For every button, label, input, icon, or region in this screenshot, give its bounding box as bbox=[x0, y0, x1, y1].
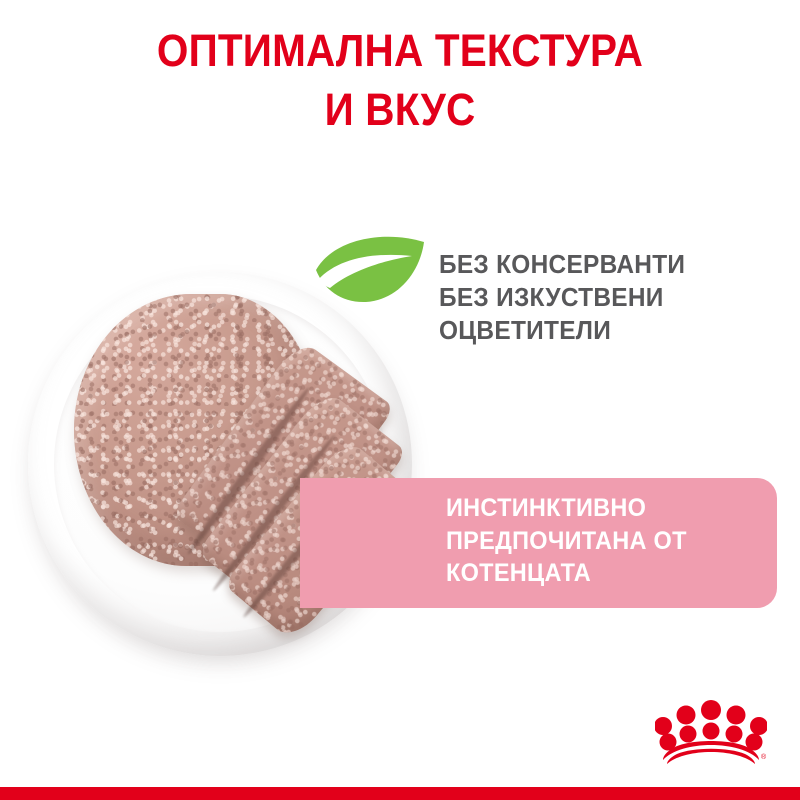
royal-canin-crown-logo: ® bbox=[655, 700, 767, 764]
green-leaf-icon bbox=[312, 236, 428, 306]
page-title: ОПТИМАЛНА ТЕКСТУРА И ВКУС bbox=[40, 22, 760, 139]
kitten-preference-label: ИНСТИНКТИВНО ПРЕДПОЧИТАНА ОТ КОТЕНЦАТА bbox=[446, 492, 756, 590]
no-additives-label: БЕЗ КОНСЕРВАНТИ БЕЗ ИЗКУСТВЕНИ ОЦВЕТИТЕЛ… bbox=[439, 248, 749, 347]
promo-panel: ОПТИМАЛНА ТЕКСТУРА И ВКУС ИНСТИНКТИВ bbox=[0, 0, 800, 800]
trademark-symbol: ® bbox=[761, 753, 767, 761]
footer-red-bar bbox=[0, 787, 800, 800]
